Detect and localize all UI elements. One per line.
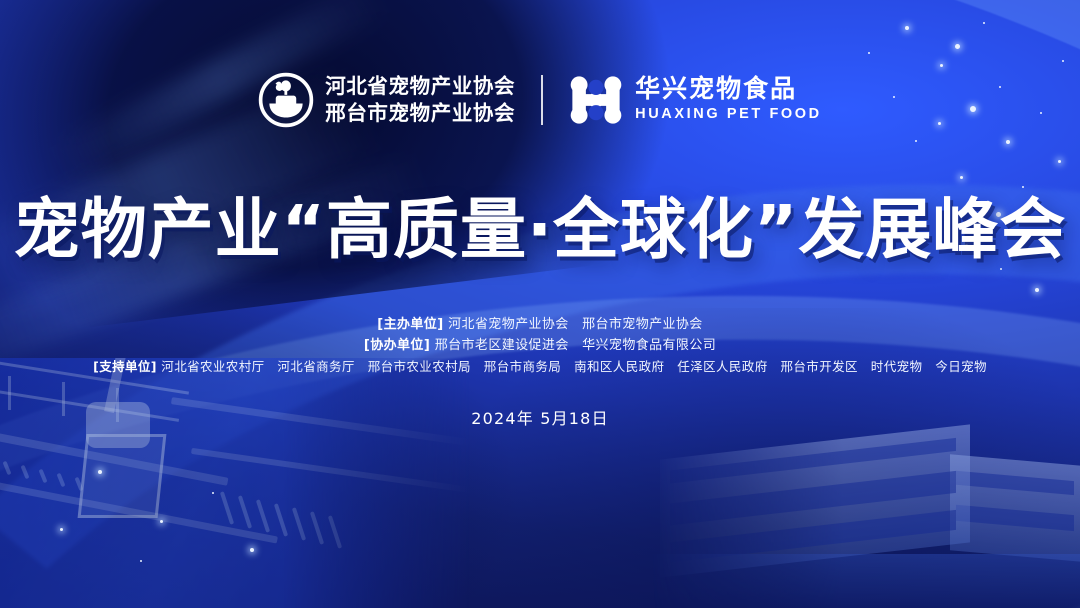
brand-logo[interactable]: 华兴宠物食品 HUAXING PET FOOD — [569, 75, 822, 125]
association-names: 河北省宠物产业协会 邢台市宠物产业协会 — [325, 73, 515, 127]
poster-canvas: 河北省宠物产业协会 邢台市宠物产业协会 — [0, 0, 1080, 608]
event-date: 2024年 5月18日 — [0, 405, 1080, 429]
credit-tag: [主办单位] — [377, 317, 443, 332]
credits-block: [主办单位] 河北省宠物产业协会 邢台市宠物产业协会 [协办单位] 邢台市老区建… — [0, 314, 1080, 377]
poster-content: 河北省宠物产业协会 邢台市宠物产业协会 — [0, 0, 1080, 608]
credit-tag: [支持单位] — [93, 359, 157, 374]
brand-name-en: HUAXING PET FOOD — [635, 105, 822, 124]
logo-lockup: 河北省宠物产业协会 邢台市宠物产业协会 — [0, 72, 1080, 128]
credit-line-coorganizer: [协办单位] 邢台市老区建设促进会 华兴宠物食品有限公司 — [0, 335, 1080, 356]
huaxing-h-paw-mark-icon — [569, 75, 623, 125]
association-name-line1: 河北省宠物产业协会 — [325, 75, 515, 98]
page-title: 宠物产业“高质量·全球化”发展峰会 — [0, 176, 1080, 272]
brand-names: 华兴宠物食品 HUAXING PET FOOD — [635, 76, 822, 124]
association-name-line2: 邢台市宠物产业协会 — [325, 102, 515, 125]
credit-value: 河北省农业农村厅 河北省商务厅 邢台市农业农村局 邢台市商务局 南和区人民政府 … — [161, 359, 987, 374]
association-logo[interactable]: 河北省宠物产业协会 邢台市宠物产业协会 — [258, 72, 515, 128]
credit-line-organizer: [主办单位] 河北省宠物产业协会 邢台市宠物产业协会 — [0, 314, 1080, 335]
credit-line-supporter: [支持单位] 河北省农业农村厅 河北省商务厅 邢台市农业农村局 邢台市商务局 南… — [0, 356, 1080, 377]
credit-tag: [协办单位] — [364, 338, 430, 353]
pet-bowl-circle-icon — [258, 72, 314, 128]
credit-value: 邢台市老区建设促进会 华兴宠物食品有限公司 — [435, 338, 716, 353]
logo-divider — [541, 75, 543, 125]
credit-value: 河北省宠物产业协会 邢台市宠物产业协会 — [448, 317, 703, 332]
brand-name-cn: 华兴宠物食品 — [635, 75, 797, 103]
